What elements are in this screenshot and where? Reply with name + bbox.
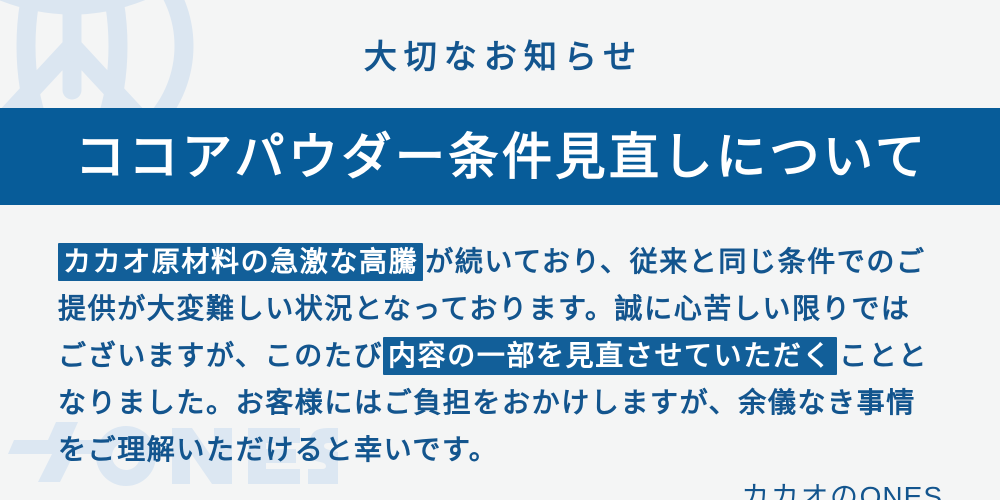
highlighted-phrase: カカオ原材料の急激な高騰	[58, 243, 423, 281]
body-line: ございますが、このたび内容の一部を見直させていただくことと	[58, 332, 948, 379]
title-band: ココアパウダー条件見直しについて	[0, 108, 1000, 205]
signature: カカオのONES	[58, 473, 948, 500]
body-line: カカオ原材料の急激な高騰が続いており、従来と同じ条件でのご	[58, 238, 948, 285]
body-text-run: をご理解いただけると幸いです。	[58, 434, 498, 465]
announcement-poster: 大切なお知らせ ココアパウダー条件見直しについて カカオ原材料の急激な高騰が続い…	[0, 0, 1000, 500]
body-copy: カカオ原材料の急激な高騰が続いており、従来と同じ条件でのご 提供が大変難しい状況…	[58, 238, 948, 500]
body-line: 提供が大変難しい状況となっております。誠に心苦しい限りでは	[58, 285, 948, 332]
signature-prefix: カカオの	[741, 481, 859, 500]
signature-brand: ONES	[860, 481, 943, 500]
body-line: をご理解いただけると幸いです。	[58, 426, 948, 473]
page-kicker: 大切なお知らせ	[0, 40, 1000, 73]
page-title: ココアパウダー条件見直しについて	[72, 132, 929, 182]
body-text-run: なりました。お客様にはご負担をおかけしますが、余儀なき事情	[58, 387, 916, 418]
highlighted-phrase: 内容の一部を見直させていただく	[383, 337, 837, 375]
body-text-run: が続いており、従来と同じ条件でのご	[425, 246, 925, 277]
body-text-run: ございますが、このたび	[58, 340, 383, 371]
body-text-run: ことと	[839, 340, 928, 371]
body-line: なりました。お客様にはご負担をおかけしますが、余儀なき事情	[58, 379, 948, 426]
body-text-run: 提供が大変難しい状況となっております。誠に心苦しい限りでは	[58, 293, 911, 324]
